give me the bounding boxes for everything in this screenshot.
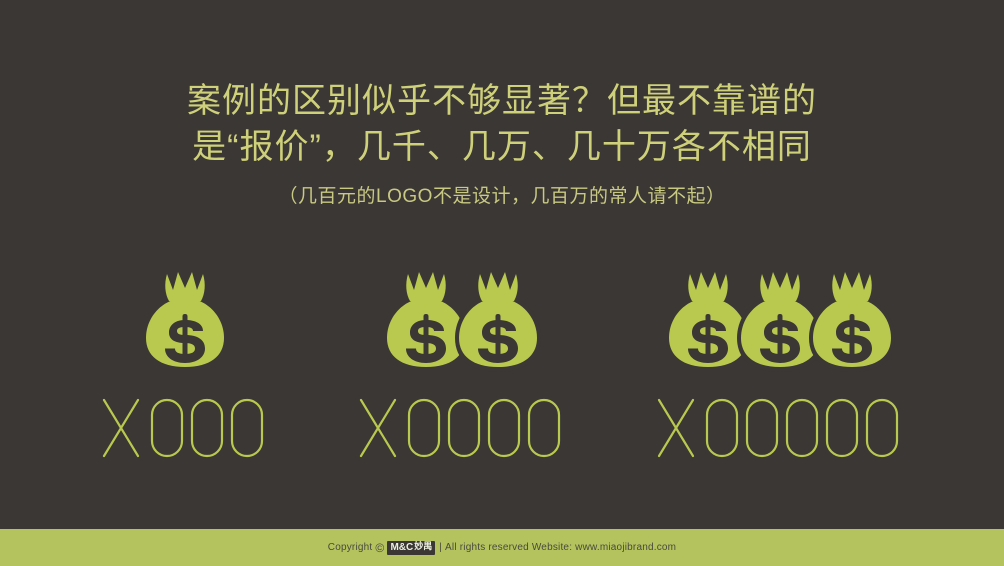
- money-bag-group-high: [672, 262, 888, 372]
- slide-canvas: 案例的区别似乎不够显著？但最不靠谱的 是“报价”，几千、几万、几十万各不相同 （…: [0, 0, 1004, 566]
- headline-line-2: 是“报价”，几千、几万、几十万各不相同: [0, 124, 1004, 170]
- footer-bar: Copyright © M&C 妙禺 | All rights reserved…: [0, 529, 1004, 566]
- money-bag-icon: [455, 268, 541, 372]
- brand-logo-latin: M&C: [390, 543, 413, 553]
- headline-line-1: 案例的区别似乎不够显著？但最不靠谱的: [0, 78, 1004, 124]
- amount-glyphs-x0000: [357, 394, 567, 462]
- brand-logo: M&C 妙禺: [387, 541, 435, 555]
- footer-separator: |: [439, 543, 442, 553]
- footer-credit: Copyright © M&C 妙禺 | All rights reserved…: [328, 541, 676, 555]
- money-bag-group-mid: [380, 262, 544, 372]
- brand-logo-cn: 妙禺: [414, 543, 432, 552]
- copyright-icon: ©: [375, 542, 384, 554]
- money-bag-icon: [809, 268, 895, 372]
- amount-glyphs-x000: [100, 394, 270, 462]
- money-bag-group-low: [113, 262, 257, 372]
- footer-rights-text: All rights reserved Website: www.miaojib…: [445, 543, 676, 553]
- amount-label-mid: [330, 388, 594, 468]
- subtitle: （几百元的LOGO不是设计，几百万的常人请不起）: [0, 184, 1004, 210]
- amount-label-high: [620, 388, 940, 468]
- amount-label-low: [60, 388, 310, 468]
- amount-labels: [0, 388, 1004, 468]
- money-bag-icon: [142, 268, 228, 372]
- money-bag-groups: [0, 262, 1004, 372]
- page-title: 案例的区别似乎不够显著？但最不靠谱的 是“报价”，几千、几万、几十万各不相同: [0, 78, 1004, 170]
- footer-copyright-word: Copyright: [328, 543, 373, 553]
- amount-glyphs-x00000: [655, 394, 905, 462]
